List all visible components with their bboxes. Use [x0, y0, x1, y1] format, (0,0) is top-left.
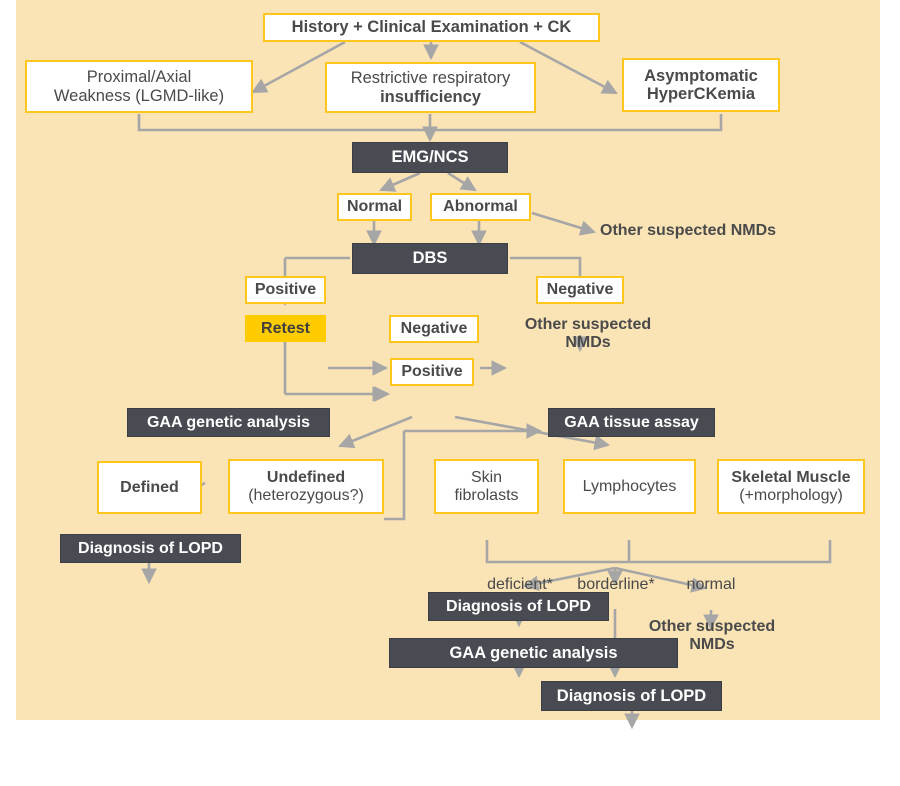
node-restrictive-respiratory-insufficiency[interactable]: Restrictive respiratory insufficiency: [325, 62, 536, 113]
node-diagnosis-of-lopd-1[interactable]: Diagnosis of LOPD: [60, 534, 241, 563]
node-label: normal: [687, 576, 736, 594]
node-label-line2: insufficiency: [380, 88, 481, 106]
node-label: GAA genetic analysis: [147, 414, 310, 432]
node-label: Positive: [255, 281, 316, 299]
node-diagnosis-of-lopd-3[interactable]: Diagnosis of LOPD: [541, 681, 722, 711]
node-label: Diagnosis of LOPD: [557, 687, 706, 705]
node-diagnosis-of-lopd-2[interactable]: Diagnosis of LOPD: [428, 592, 609, 621]
node-label: Diagnosis of LOPD: [78, 540, 223, 558]
node-label: GAA genetic analysis: [449, 644, 617, 662]
node-label: Defined: [120, 479, 179, 497]
node-gaa-genetic-analysis-1[interactable]: GAA genetic analysis: [127, 408, 330, 437]
node-label-line2: fibrolasts: [454, 487, 518, 505]
label-other-suspected-nmds-2: Other suspected NMDs: [508, 311, 668, 357]
node-label: Positive: [401, 363, 462, 381]
node-label: Diagnosis of LOPD: [446, 598, 591, 616]
node-label-line1: Other suspected: [649, 618, 775, 636]
node-history-clinical-exam-ck[interactable]: History + Clinical Examination + CK: [263, 13, 600, 42]
node-label-line1: Skeletal Muscle: [731, 469, 850, 487]
node-label-line2: (heterozygous?): [248, 487, 364, 505]
node-label-line2: (+morphology): [739, 487, 843, 505]
node-gaa-tissue-assay[interactable]: GAA tissue assay: [548, 408, 715, 437]
node-label-line1: Undefined: [267, 469, 345, 487]
label-other-suspected-nmds-1: Other suspected NMDs: [600, 219, 810, 243]
node-label: GAA tissue assay: [564, 414, 699, 432]
node-label: Normal: [347, 198, 402, 216]
node-retest[interactable]: Retest: [245, 315, 326, 342]
node-normal[interactable]: Normal: [337, 193, 412, 221]
node-skin-fibroblasts[interactable]: Skin fibrolasts: [434, 459, 539, 514]
node-abnormal[interactable]: Abnormal: [430, 193, 531, 221]
node-label-line2: NMDs: [689, 636, 734, 654]
node-proximal-axial-weakness[interactable]: Proximal/Axial Weakness (LGMD-like): [25, 60, 253, 113]
node-label-line2: Weakness (LGMD-like): [54, 87, 224, 105]
node-skeletal-muscle-morphology[interactable]: Skeletal Muscle (+morphology): [717, 459, 865, 514]
node-label-line2: NMDs: [565, 334, 610, 352]
node-dbs[interactable]: DBS: [352, 243, 508, 274]
node-defined[interactable]: Defined: [97, 461, 202, 514]
node-label: Negative: [401, 320, 468, 338]
node-dbs-negative[interactable]: Negative: [536, 276, 624, 304]
node-label: Abnormal: [443, 198, 518, 216]
node-label: History + Clinical Examination + CK: [292, 18, 572, 36]
node-label: EMG/NCS: [391, 148, 468, 166]
node-label: Negative: [547, 281, 614, 299]
node-label-line1: Restrictive respiratory: [351, 69, 511, 87]
label-normal: normal: [663, 574, 759, 596]
node-label: Lymphocytes: [583, 478, 677, 496]
node-label-line1: Other suspected: [525, 316, 651, 334]
node-gaa-genetic-analysis-2[interactable]: GAA genetic analysis: [389, 638, 678, 668]
node-label: Retest: [261, 320, 310, 338]
node-label-line2: HyperCKemia: [647, 85, 755, 103]
node-label: Other suspected NMDs: [600, 222, 776, 240]
node-label-line1: Skin: [471, 469, 502, 487]
node-retest-positive[interactable]: Positive: [390, 358, 474, 386]
node-emg-ncs[interactable]: EMG/NCS: [352, 142, 508, 173]
node-lymphocytes[interactable]: Lymphocytes: [563, 459, 696, 514]
node-label-line1: Proximal/Axial: [87, 68, 192, 86]
node-label: DBS: [413, 249, 448, 267]
node-retest-negative[interactable]: Negative: [389, 315, 479, 343]
node-undefined-heterozygous[interactable]: Undefined (heterozygous?): [228, 459, 384, 514]
node-label-line1: Asymptomatic: [644, 67, 758, 85]
node-dbs-positive[interactable]: Positive: [245, 276, 326, 304]
node-asymptomatic-hyperckemia[interactable]: Asymptomatic HyperCKemia: [622, 58, 780, 112]
